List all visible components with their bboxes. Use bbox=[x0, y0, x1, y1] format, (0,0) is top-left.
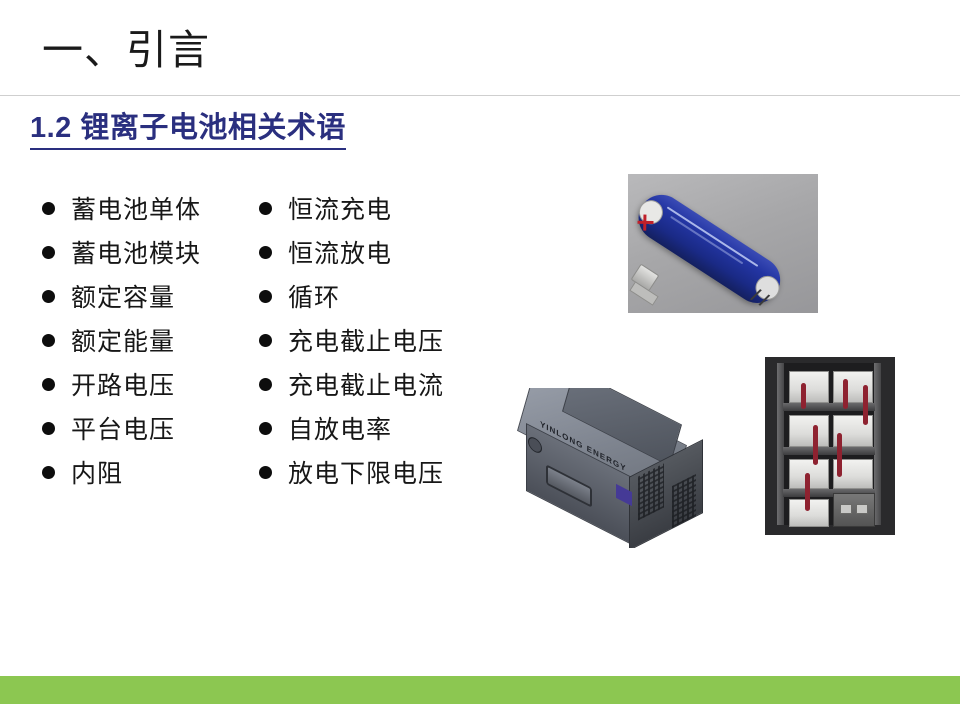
term-label: 充电截止电流 bbox=[288, 366, 444, 402]
slide-canvas: 一、引言 1.2 锂离子电池相关术语 蓄电池单体 蓄电池模块 额定容量 额定能量… bbox=[0, 0, 960, 720]
list-item: 开路电压 bbox=[42, 362, 201, 406]
bullet-icon bbox=[42, 290, 55, 303]
term-label: 恒流充电 bbox=[288, 190, 392, 226]
rack-power-cable bbox=[801, 383, 806, 409]
bullet-icon bbox=[42, 334, 55, 347]
list-item: 额定容量 bbox=[42, 274, 201, 318]
footer-accent-bar bbox=[0, 676, 960, 704]
cell-negative-cap bbox=[751, 271, 784, 304]
cell-highlight bbox=[670, 216, 743, 265]
list-item: 额定能量 bbox=[42, 318, 201, 362]
list-item: 内阻 bbox=[42, 450, 201, 494]
bullet-icon bbox=[42, 378, 55, 391]
term-label: 自放电率 bbox=[288, 410, 392, 446]
rack-shelf bbox=[783, 447, 875, 455]
section-subtitle: 1.2 锂离子电池相关术语 bbox=[30, 104, 346, 150]
list-item: 自放电率 bbox=[259, 406, 444, 450]
bullet-icon bbox=[259, 378, 272, 391]
term-label: 额定容量 bbox=[71, 278, 175, 314]
rack-battery-module bbox=[789, 415, 829, 447]
term-label: 恒流放电 bbox=[288, 234, 392, 270]
list-item: 放电下限电压 bbox=[259, 450, 444, 494]
rack-switch-icon[interactable] bbox=[856, 504, 868, 514]
bullet-icon bbox=[42, 422, 55, 435]
terms-left-column: 蓄电池单体 蓄电池模块 额定容量 额定能量 开路电压 平台电压 内阻 bbox=[42, 186, 201, 494]
plus-marker-icon bbox=[643, 215, 646, 231]
page-title: 一、引言 bbox=[42, 28, 210, 73]
list-item: 蓄电池单体 bbox=[42, 186, 201, 230]
rack-power-cable bbox=[813, 425, 818, 465]
term-label: 充电截止电压 bbox=[288, 322, 444, 358]
term-label: 内阻 bbox=[71, 454, 123, 490]
list-item: 充电截止电压 bbox=[259, 318, 444, 362]
rack-power-cable bbox=[863, 385, 868, 425]
cell-highlight bbox=[667, 206, 759, 266]
rack-frame-post bbox=[777, 363, 784, 525]
list-item: 蓄电池模块 bbox=[42, 230, 201, 274]
rack-power-cable bbox=[843, 379, 848, 409]
bullet-icon bbox=[42, 202, 55, 215]
rack-shelf bbox=[783, 403, 875, 411]
list-item: 循环 bbox=[259, 274, 444, 318]
bullet-icon bbox=[42, 466, 55, 479]
bullet-icon bbox=[259, 422, 272, 435]
term-label: 循环 bbox=[288, 278, 340, 314]
title-divider bbox=[0, 95, 960, 96]
rack-control-panel bbox=[833, 493, 875, 527]
bullet-icon bbox=[259, 466, 272, 479]
list-item: 充电截止电流 bbox=[259, 362, 444, 406]
cell-positive-cap bbox=[634, 196, 667, 229]
rack-battery-module bbox=[789, 371, 829, 403]
term-label: 蓄电池单体 bbox=[71, 190, 201, 226]
term-label: 平台电压 bbox=[71, 410, 175, 446]
bullet-icon bbox=[259, 334, 272, 347]
rack-frame-post bbox=[874, 363, 881, 525]
bullet-icon bbox=[259, 202, 272, 215]
list-item: 平台电压 bbox=[42, 406, 201, 450]
term-label: 开路电压 bbox=[71, 366, 175, 402]
list-item: 恒流放电 bbox=[259, 230, 444, 274]
bullet-icon bbox=[259, 290, 272, 303]
term-label: 额定能量 bbox=[71, 322, 175, 358]
rack-switch-icon[interactable] bbox=[840, 504, 852, 514]
battery-module-render: YINLONG ENERGY bbox=[512, 388, 722, 548]
cylindrical-cell-photo bbox=[628, 174, 818, 313]
bullet-icon bbox=[259, 246, 272, 259]
rack-power-cable bbox=[837, 433, 842, 477]
list-item: 恒流充电 bbox=[259, 186, 444, 230]
term-label: 放电下限电压 bbox=[288, 454, 444, 490]
negative-marker-icon bbox=[750, 289, 770, 306]
rack-power-cable bbox=[805, 473, 810, 511]
terms-right-column: 恒流充电 恒流放电 循环 充电截止电压 充电截止电流 自放电率 放电下限电压 bbox=[259, 186, 444, 494]
rack-interior bbox=[777, 363, 881, 525]
battery-rack-photo bbox=[765, 357, 895, 535]
bullet-icon bbox=[42, 246, 55, 259]
term-label: 蓄电池模块 bbox=[71, 234, 201, 270]
